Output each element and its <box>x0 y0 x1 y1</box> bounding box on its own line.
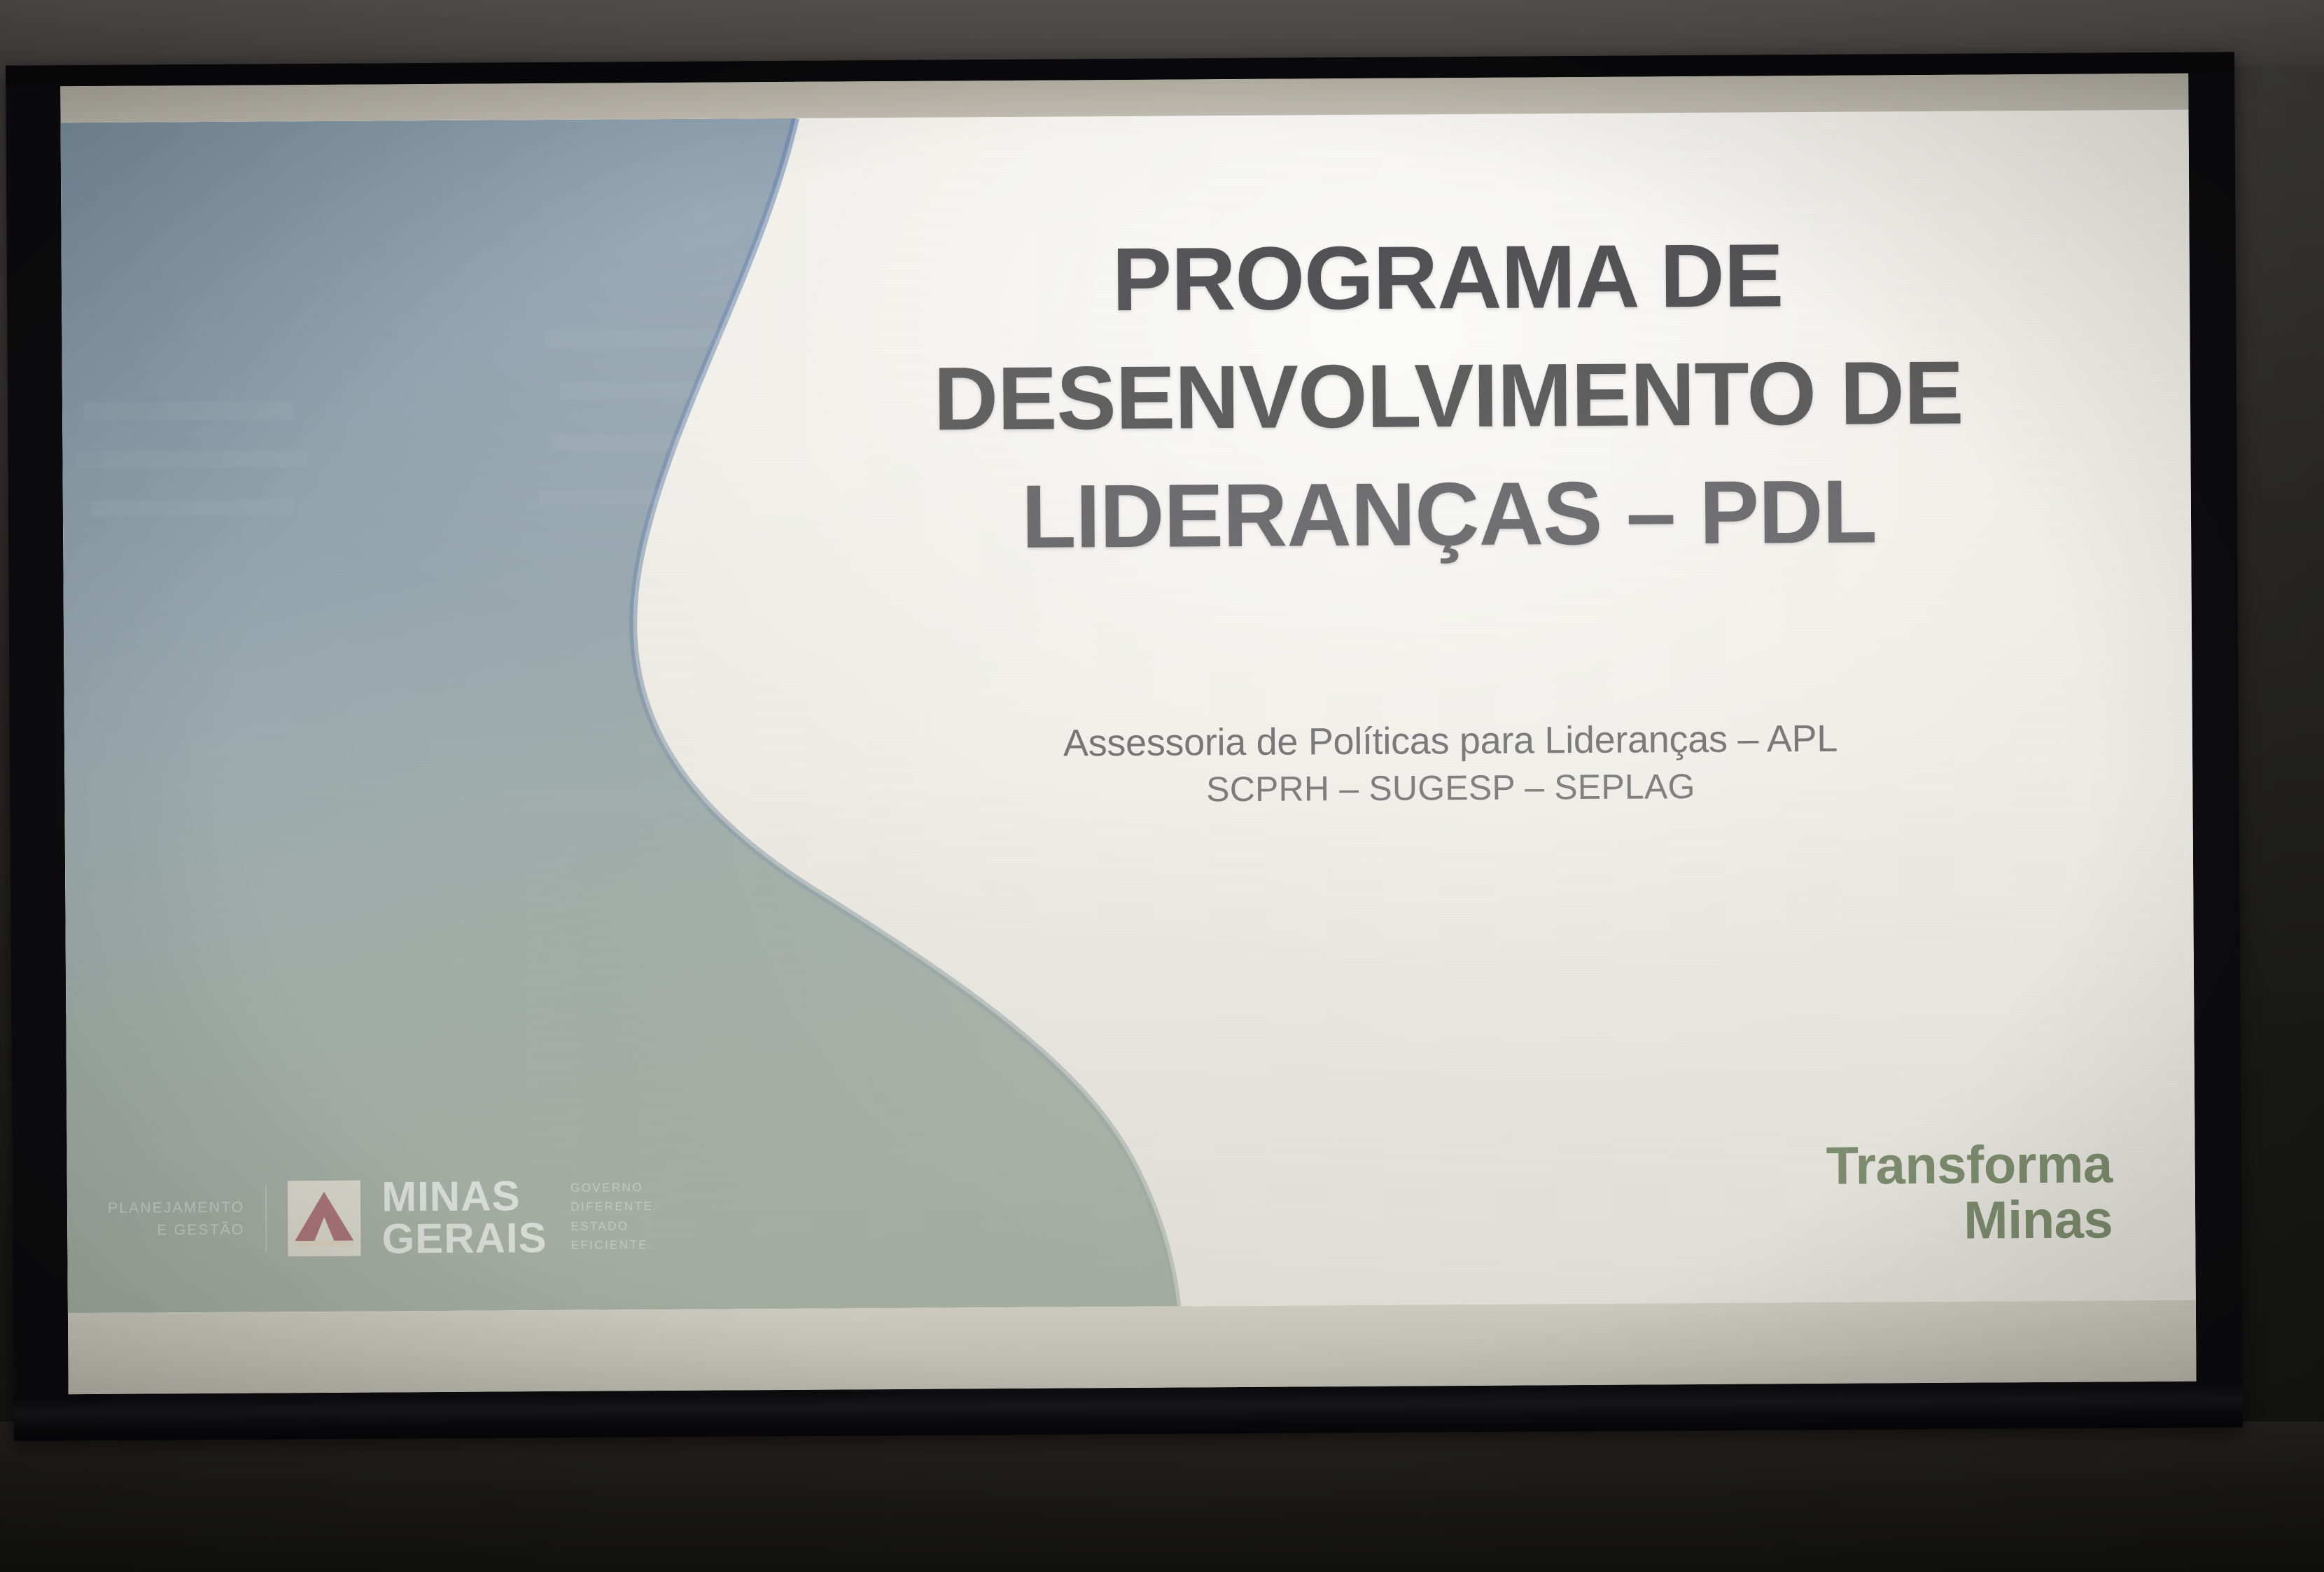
wall-lower <box>0 1421 2324 1572</box>
projection-screen-surface: PROGRAMA DE DESENVOLVIMENTO DE LIDERANÇA… <box>60 74 2196 1395</box>
department-line-1: PLANEJAMENTO <box>108 1197 244 1220</box>
title-line-3: LIDERANÇAS – PDL <box>818 452 2079 578</box>
minas-gerais-name-line-2: GERAIS <box>381 1217 547 1260</box>
title-line-1: PROGRAMA DE <box>817 216 2078 342</box>
projection-screen-frame: PROGRAMA DE DESENVOLVIMENTO DE LIDERANÇA… <box>6 52 2243 1440</box>
logo-divider <box>265 1185 267 1252</box>
transforma-minas-line-2: Minas <box>1826 1192 2113 1249</box>
screen-margin-bottom <box>68 1298 2197 1395</box>
tagline-line-2: DIFERENTE. <box>570 1197 658 1216</box>
tagline-line-1: GOVERNO <box>570 1178 658 1197</box>
slide-title: PROGRAMA DE DESENVOLVIMENTO DE LIDERANÇA… <box>817 216 2079 578</box>
transforma-minas-line-1: Transforma <box>1826 1138 2113 1195</box>
title-line-2: DESENVOLVIMENTO DE <box>818 334 2078 460</box>
subtitle-line-1: Assessoria de Políticas para Lideranças … <box>820 713 2080 770</box>
tagline-line-3: ESTADO <box>570 1216 658 1236</box>
transforma-minas-logo: Transforma Minas <box>1826 1138 2113 1249</box>
minas-gerais-wordmark: MINAS GERAIS <box>381 1175 547 1259</box>
minas-gerais-logo: PLANEJAMENTO E GESTÃO MINAS GERAIS <box>108 1174 659 1261</box>
projected-slide: PROGRAMA DE DESENVOLVIMENTO DE LIDERANÇA… <box>61 110 2196 1314</box>
room-photograph: PROGRAMA DE DESENVOLVIMENTO DE LIDERANÇA… <box>0 0 2324 1572</box>
minas-gerais-name-line-1: MINAS <box>381 1175 547 1218</box>
tagline-line-4: EFICIENTE. <box>571 1235 659 1255</box>
slide-subtitle: Assessoria de Políticas para Lideranças … <box>820 713 2081 815</box>
department-line-2: E GESTÃO <box>108 1218 244 1241</box>
subtitle-line-2: SCPRH – SUGESP – SEPLAG <box>820 762 2080 815</box>
minas-gerais-department: PLANEJAMENTO E GESTÃO <box>108 1197 245 1241</box>
minas-gerais-tagline: GOVERNO DIFERENTE. ESTADO EFICIENTE. <box>570 1178 659 1255</box>
minas-gerais-triangle-icon <box>288 1180 361 1256</box>
